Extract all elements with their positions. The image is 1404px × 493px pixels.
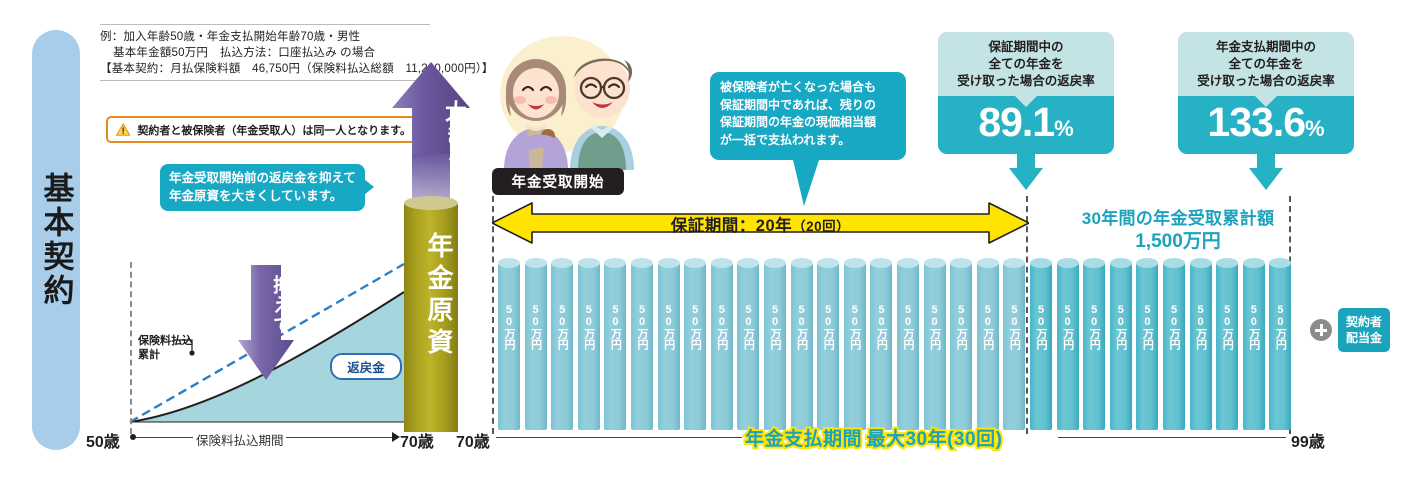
cumulative-total-line-2: 1,500万円 xyxy=(1042,230,1314,253)
annuity-bar-amount: 50万円 xyxy=(1136,304,1158,350)
annuity-bar-amount: 50万円 xyxy=(1030,304,1052,350)
annuity-bar: 50万円 xyxy=(1110,258,1132,430)
annuity-bar-cap xyxy=(1243,258,1265,268)
annuity-bar-cap xyxy=(791,258,813,268)
annuity-bar-amount: 50万円 xyxy=(604,304,626,350)
dividend-line-2: 配当金 xyxy=(1346,330,1382,346)
pension-period-label: 年金支払期間 最大30年(30回) xyxy=(745,424,1002,451)
annuity-bar: 50万円 xyxy=(551,258,573,430)
annuity-bar: 50万円 xyxy=(711,258,733,430)
rate2-arrow-stem xyxy=(1257,144,1275,168)
annuity-bar-amount: 50万円 xyxy=(950,304,972,350)
annuity-bar-cap xyxy=(764,258,786,268)
dividend-line-1: 契約者 xyxy=(1346,314,1382,330)
pension-period-value-text: 最大30年(30回) xyxy=(866,429,1002,450)
example-line-1: 例：加入年齢50歳・年金支払開始年齢70歳・男性 xyxy=(100,29,430,45)
annuity-bar-cap xyxy=(924,258,946,268)
notice-text: 契約者と被保険者（年金受取人）は同一人となります。 xyxy=(137,122,411,138)
annuity-bar: 50万円 xyxy=(604,258,626,430)
annuity-bar-amount: 50万円 xyxy=(1083,304,1105,350)
annuity-bar: 50万円 xyxy=(658,258,680,430)
refund-badge: 返戻金 xyxy=(330,353,402,380)
annuity-bar: 50万円 xyxy=(498,258,520,430)
annuity-bar-cap xyxy=(658,258,680,268)
annuity-bar-amount: 50万円 xyxy=(1216,304,1238,350)
notice-box: 契約者と被保険者（年金受取人）は同一人となります。 xyxy=(106,116,421,143)
cumulative-total-text: 30年間の年金受取累計額 1,500万円 xyxy=(1042,208,1314,253)
annuity-bar-amount: 50万円 xyxy=(551,304,573,350)
guarantee-main: 保証期間：20年 xyxy=(671,217,792,235)
annuity-bar-amount: 50万円 xyxy=(578,304,600,350)
annuity-bar: 50万円 xyxy=(1269,258,1291,430)
guarantee-sub: （20回） xyxy=(792,219,850,234)
payment-period-arrow-right xyxy=(392,432,400,442)
age-label-50: 50歳 xyxy=(86,428,120,452)
annuity-bar-amount: 50万円 xyxy=(924,304,946,350)
annuity-bar-amount: 50万円 xyxy=(1190,304,1212,350)
cumulative-total-line-1: 30年間の年金受取累計額 xyxy=(1042,208,1314,230)
death-callout-line-3: 保証期間の年金の現価相当額 xyxy=(720,114,896,132)
divider-bottom xyxy=(100,80,430,81)
sidebar-item-label: 基本契約 xyxy=(34,172,79,308)
annuity-bar: 50万円 xyxy=(737,258,759,430)
annuity-bar-amount: 50万円 xyxy=(525,304,547,350)
annuity-bar: 50万円 xyxy=(1003,258,1025,430)
annuity-bar-amount: 50万円 xyxy=(737,304,759,350)
rate2-notch xyxy=(1255,96,1277,107)
annuity-bar-amount: 50万円 xyxy=(844,304,866,350)
annuity-bar: 50万円 xyxy=(1136,258,1158,430)
suppress-arrow-label: 抑えて xyxy=(238,275,294,335)
pension-period-label-text: 年金支払期間 xyxy=(745,429,862,450)
annuity-bar-cap xyxy=(844,258,866,268)
rate1-head-line-1: 保証期間中の xyxy=(938,39,1114,56)
pension-fund-column: 年金原資 xyxy=(404,196,458,432)
annuity-bar: 50万円 xyxy=(897,258,919,430)
pension-period-line-right xyxy=(1058,437,1286,438)
pension-start-label: 年金受取開始 xyxy=(492,168,624,195)
annuity-bar: 50万円 xyxy=(684,258,706,430)
annuity-bar: 50万円 xyxy=(1057,258,1079,430)
annuity-bar-cap xyxy=(1057,258,1079,268)
annuity-bar-cap xyxy=(1110,258,1132,268)
annuity-bar-cap xyxy=(1030,258,1052,268)
annuity-bar-amount: 50万円 xyxy=(1269,304,1291,350)
annuity-bar-amount: 50万円 xyxy=(977,304,999,350)
payment-period-line-left xyxy=(133,437,193,438)
annuity-bar: 50万円 xyxy=(924,258,946,430)
pension-start-label-text: 年金受取開始 xyxy=(512,171,605,192)
example-line-3: 【基本契約：月払保険料額 46,750円（保険料払込総額 11,220,000円… xyxy=(100,61,430,77)
annuity-bars: 50万円50万円50万円50万円50万円50万円50万円50万円50万円50万円… xyxy=(498,258,1308,430)
left-callout: 年金受取開始前の返戻金を抑えて 年金原資を大きくしています。 xyxy=(160,164,365,211)
death-callout-line-1: 被保険者が亡くなった場合も xyxy=(720,79,896,97)
return-rate-guarantee-head: 保証期間中の 全ての年金を 受け取った場合の返戻率 xyxy=(938,32,1114,96)
age-label-70-right: 70歳 xyxy=(456,428,490,452)
rate2-arrow-down xyxy=(1249,144,1283,190)
rate2-unit: % xyxy=(1305,116,1325,141)
pension-fund-label: 年金原資 xyxy=(404,232,458,360)
death-callout-line-4: が一括で支払われます。 xyxy=(720,132,896,150)
sidebar-basic-contract-tab: 基本契約 xyxy=(32,30,80,450)
annuity-bar-cap xyxy=(711,258,733,268)
annuity-bar: 50万円 xyxy=(817,258,839,430)
annuity-bar-cap xyxy=(525,258,547,268)
cumulative-premium-label-line2: 累計 xyxy=(138,348,193,362)
annuity-bar-amount: 50万円 xyxy=(1163,304,1185,350)
annuity-bar-cap xyxy=(977,258,999,268)
annuity-bar-cap xyxy=(1163,258,1185,268)
payment-period-line-right xyxy=(286,437,394,438)
left-callout-line-1: 年金受取開始前の返戻金を抑えて xyxy=(169,170,356,188)
annuity-bar-amount: 50万円 xyxy=(1243,304,1265,350)
annuity-bar: 50万円 xyxy=(870,258,892,430)
pension-period-line-left xyxy=(496,437,742,438)
annuity-bar: 50万円 xyxy=(977,258,999,430)
annuity-bar-amount: 50万円 xyxy=(711,304,733,350)
payment-period-label: 保険料払込期間 xyxy=(196,430,284,449)
guarantee-period-label: 保証期間：20年（20回） xyxy=(492,212,1029,236)
return-rate-guarantee-box: 保証期間中の 全ての年金を 受け取った場合の返戻率 89.1% xyxy=(938,32,1114,154)
annuity-bar-amount: 50万円 xyxy=(631,304,653,350)
guarantee-period-bar: 保証期間：20年（20回） xyxy=(492,200,1029,246)
annuity-bar-amount: 50万円 xyxy=(684,304,706,350)
death-callout-line-2: 保証期間中であれば、残りの xyxy=(720,97,896,115)
cumulative-premium-label-line1: 保険料払込 xyxy=(138,334,193,348)
annuity-bar-cap xyxy=(631,258,653,268)
annuity-bar-cap xyxy=(498,258,520,268)
annuity-bar: 50万円 xyxy=(950,258,972,430)
return-rate-full-box: 年金支払期間中の 全ての年金を 受け取った場合の返戻率 133.6% xyxy=(1178,32,1354,154)
elderly-couple-illustration xyxy=(478,30,638,170)
annuity-bar-amount: 50万円 xyxy=(1110,304,1132,350)
annuity-bar: 50万円 xyxy=(1243,258,1265,430)
warning-icon xyxy=(116,121,130,138)
rate1-arrow-head xyxy=(1009,168,1043,190)
cumulative-premium-label: 保険料払込 累計 xyxy=(138,334,193,362)
annuity-bar: 50万円 xyxy=(764,258,786,430)
annuity-bar-amount: 50万円 xyxy=(897,304,919,350)
annuity-bar: 50万円 xyxy=(525,258,547,430)
annuity-bar-amount: 50万円 xyxy=(658,304,680,350)
annuity-bar: 50万円 xyxy=(791,258,813,430)
axis-divider-50 xyxy=(130,262,132,434)
age-label-99: 99歳 xyxy=(1291,428,1325,452)
dividend-box: 契約者 配当金 xyxy=(1338,308,1390,352)
pension-fund-cap xyxy=(404,196,458,210)
rate1-head-line-2: 全ての年金を xyxy=(938,56,1114,73)
grow-arrow-label: 大きく xyxy=(392,100,470,172)
refund-badge-label: 返戻金 xyxy=(347,357,385,376)
rate2-head-line-3: 受け取った場合の返戻率 xyxy=(1178,73,1354,90)
left-callout-line-2: 年金原資を大きくしています。 xyxy=(169,188,356,206)
annuity-bar: 50万円 xyxy=(1030,258,1052,430)
rate1-notch xyxy=(1015,96,1037,107)
annuity-bar-amount: 50万円 xyxy=(764,304,786,350)
annuity-bar: 50万円 xyxy=(1083,258,1105,430)
rate1-arrow-down xyxy=(1009,144,1043,190)
annuity-bar: 50万円 xyxy=(1216,258,1238,430)
callout-tail xyxy=(364,179,374,195)
annuity-bar-amount: 50万円 xyxy=(791,304,813,350)
annuity-bar-cap xyxy=(897,258,919,268)
plus-icon xyxy=(1310,319,1332,341)
rate1-unit: % xyxy=(1054,116,1074,141)
annuity-bar-cap xyxy=(1190,258,1212,268)
annuity-bar: 50万円 xyxy=(1163,258,1185,430)
annuity-bar-amount: 50万円 xyxy=(1003,304,1025,350)
annuity-bar: 50万円 xyxy=(1190,258,1212,430)
example-conditions-block: 例：加入年齢50歳・年金支払開始年齢70歳・男性 基本年金額50万円 払込方法：… xyxy=(100,24,430,81)
death-benefit-callout: 被保険者が亡くなった場合も 保証期間中であれば、残りの 保証期間の年金の現価相当… xyxy=(710,72,906,160)
annuity-bar-cap xyxy=(578,258,600,268)
grow-arrow: 大きく xyxy=(392,62,470,200)
example-line-2: 基本年金額50万円 払込方法：口座払込み の場合 xyxy=(100,45,430,61)
annuity-bar: 50万円 xyxy=(631,258,653,430)
annuity-bar: 50万円 xyxy=(844,258,866,430)
policyholder-dividend: 契約者 配当金 xyxy=(1310,308,1390,352)
annuity-bar: 50万円 xyxy=(578,258,600,430)
annuity-bar-amount: 50万円 xyxy=(817,304,839,350)
rate2-head-line-2: 全ての年金を xyxy=(1178,56,1354,73)
annuity-bar-amount: 50万円 xyxy=(498,304,520,350)
rate2-arrow-head xyxy=(1249,168,1283,190)
annuity-bar-amount: 50万円 xyxy=(1057,304,1079,350)
payment-period-dot-left xyxy=(130,434,136,440)
rate1-arrow-stem xyxy=(1017,144,1035,168)
suppress-arrow: 抑えて xyxy=(238,265,294,380)
rate1-head-line-3: 受け取った場合の返戻率 xyxy=(938,73,1114,90)
return-rate-full-head: 年金支払期間中の 全ての年金を 受け取った場合の返戻率 xyxy=(1178,32,1354,96)
annuity-bar-amount: 50万円 xyxy=(870,304,892,350)
rate2-head-line-1: 年金支払期間中の xyxy=(1178,39,1354,56)
age-label-70-left: 70歳 xyxy=(400,428,434,452)
